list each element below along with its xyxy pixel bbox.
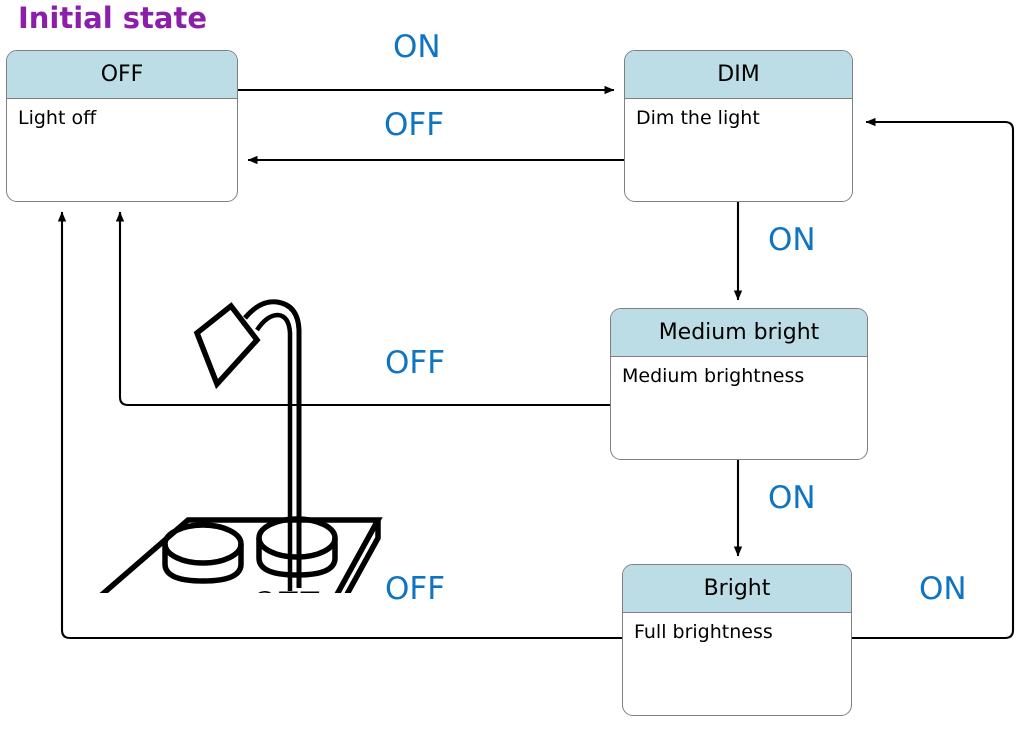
state-node-medium-bright[interactable]: Medium bright Medium brightness	[610, 308, 868, 460]
edge-bright-to-dim	[852, 122, 1013, 638]
state-name-off: OFF	[7, 51, 237, 99]
state-node-bright[interactable]: Bright Full brightness	[622, 564, 852, 716]
lamp-on-caption: ON	[158, 590, 212, 593]
state-name-medium-bright: Medium bright	[611, 309, 867, 357]
state-description-off: Light off	[7, 99, 237, 130]
lamp-off-caption: OFF	[250, 586, 320, 593]
state-description-dim: Dim the light	[625, 99, 852, 130]
edge-label-dim-to-medium: ON	[768, 225, 816, 256]
edge-label-bright-to-dim: ON	[919, 574, 967, 605]
state-description-bright: Full brightness	[623, 613, 851, 644]
lamp-illustration: ON OFF	[85, 288, 435, 593]
state-description-medium-bright: Medium brightness	[611, 357, 867, 388]
edge-label-off-to-dim: ON	[393, 32, 441, 63]
lamp-pole-inner-icon	[257, 315, 290, 591]
state-name-dim: DIM	[625, 51, 852, 99]
page-title: Initial state	[18, 1, 207, 35]
edge-label-medium-to-bright: ON	[768, 483, 816, 514]
lamp-on-button-icon	[165, 525, 241, 563]
state-node-dim[interactable]: DIM Dim the light	[624, 50, 853, 202]
edge-label-medium-to-off: OFF	[385, 348, 445, 379]
edge-label-bright-to-off: OFF	[385, 574, 445, 605]
state-name-bright: Bright	[623, 565, 851, 613]
diagram-canvas: ON OFF Initial state OFF Light off DIM D…	[0, 0, 1028, 732]
state-node-off[interactable]: OFF Light off	[6, 50, 238, 202]
edge-label-dim-to-off: OFF	[384, 110, 444, 141]
